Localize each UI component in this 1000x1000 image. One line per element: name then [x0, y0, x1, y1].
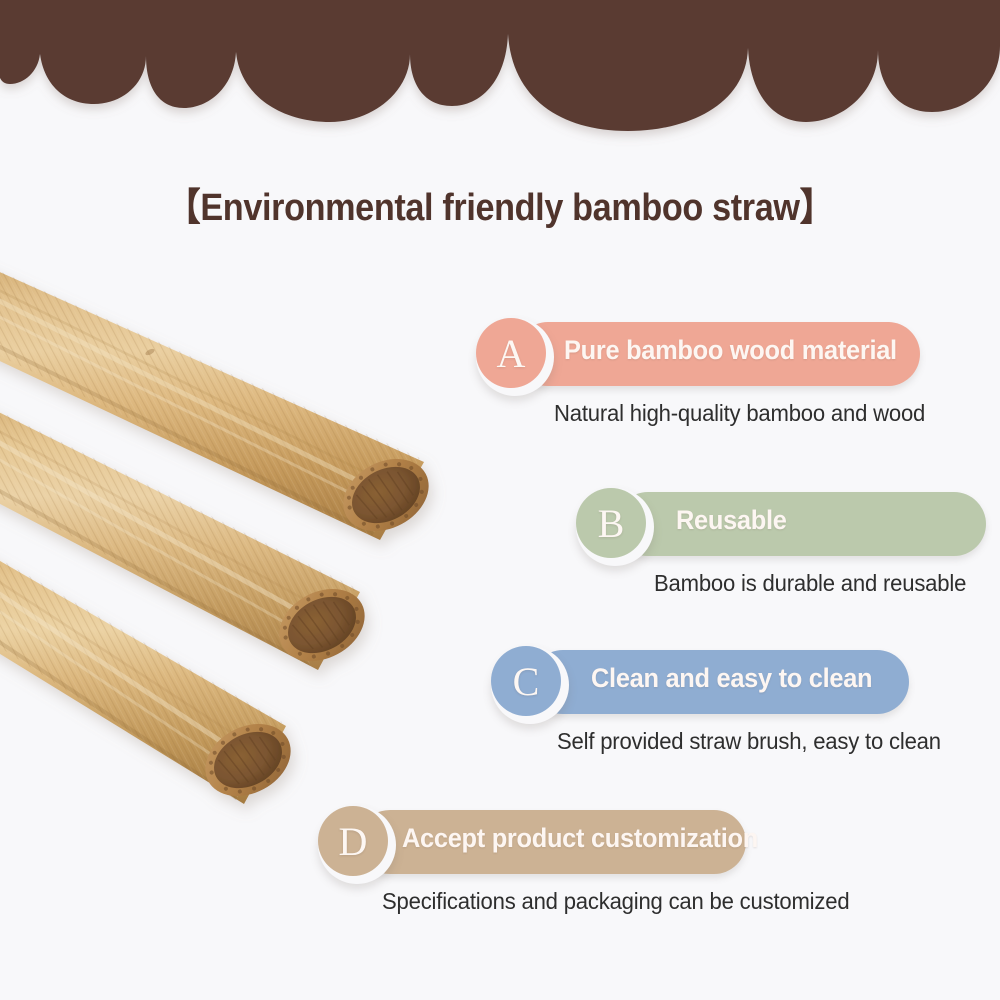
feature-title-c: Clean and easy to clean [591, 646, 872, 710]
feature-letter-circle-a: A [476, 318, 554, 396]
feature-letter-d: D [318, 806, 388, 876]
feature-letter-b: B [576, 488, 646, 558]
feature-letter-circle-d: D [318, 806, 396, 884]
feature-subtitle-d: Specifications and packaging can be cust… [382, 888, 849, 915]
feature-letter-circle-b: B [576, 488, 654, 566]
feature-title-b: Reusable [676, 488, 787, 552]
feature-subtitle-a: Natural high-quality bamboo and wood [554, 400, 925, 427]
feature-subtitle-c: Self provided straw brush, easy to clean [557, 728, 941, 755]
feature-pill-b[interactable] [616, 492, 986, 556]
feature-letter-a: A [476, 318, 546, 388]
feature-letter-c: C [491, 646, 561, 716]
infographic-canvas: 【Environmental friendly bamboo straw】 Pu… [0, 0, 1000, 1000]
feature-subtitle-b: Bamboo is durable and reusable [654, 570, 966, 597]
feature-title-d: Accept product customization [402, 806, 758, 870]
feature-title-a: Pure bamboo wood material [564, 318, 897, 382]
page-title: 【Environmental friendly bamboo straw】 [50, 176, 950, 231]
feature-letter-circle-c: C [491, 646, 569, 724]
